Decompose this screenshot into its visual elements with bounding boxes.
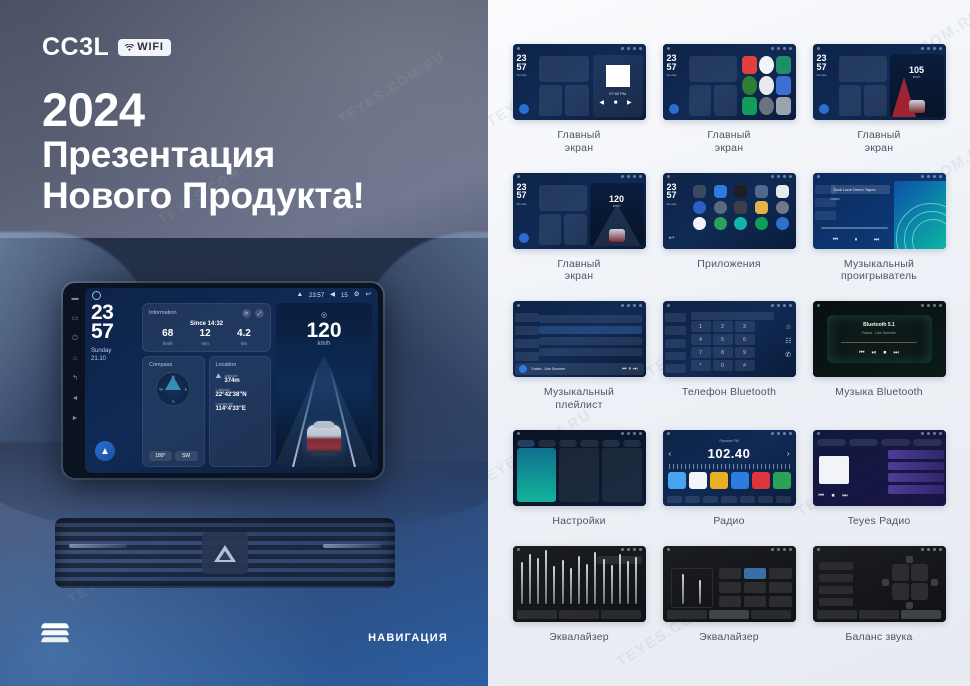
preset-station [773, 472, 791, 489]
altitude-block: Altitude 374m [224, 373, 239, 384]
thumbnail-caption: Главныйэкран [557, 258, 600, 284]
hazard-light-button[interactable] [202, 532, 248, 574]
dialpad-key[interactable]: # [735, 360, 755, 371]
information-card-header: Information ⟳ ⤢ [149, 309, 264, 318]
adas-speed-value: 105 [890, 65, 944, 75]
next-icon: ⏭ [874, 237, 879, 244]
thumbnail-grid: 2357Sunday 07:50 PM ◀ ■ ▶ Главныйэкран [488, 0, 970, 657]
thumbnail-teyes-radio[interactable]: ⏮ ⏹ ⏭ [813, 430, 946, 506]
thumbnail-home-apps[interactable]: 2357Sunday [663, 44, 796, 120]
preset-station [689, 472, 707, 489]
volume-up-icon[interactable]: ► [72, 415, 79, 422]
thumbnail-caption: Баланс звука [845, 631, 912, 644]
dialpad-key[interactable]: 9 [735, 347, 755, 358]
bluetooth-version-label: Bluetooth 5.1 [863, 322, 895, 328]
stat-unit: km [237, 341, 251, 346]
mini-player-title: Faded - Like Summer [532, 367, 566, 371]
stat-value: 12 [200, 329, 211, 339]
compass-readouts: 180° SW [149, 451, 198, 461]
bluetooth-controls[interactable]: ⏮⏯⏹⏭ [859, 350, 899, 357]
information-card-actions: ⟳ ⤢ [242, 309, 264, 318]
progress-bar[interactable] [821, 227, 888, 229]
eq-slider [619, 554, 621, 604]
thumb-clock: 2357Sunday [667, 183, 677, 206]
home-button-icon[interactable]: ⌂ [73, 355, 77, 362]
tuner-scale[interactable] [669, 464, 790, 469]
clock-column: 23 57 Sunday 21.10 ▲ [91, 303, 137, 467]
player-side-rail[interactable] [815, 185, 836, 245]
thumb-location-card [565, 85, 589, 116]
compass-north-label: N [172, 374, 175, 379]
home-icon [517, 47, 520, 50]
wifi-settings-card[interactable] [517, 448, 557, 502]
thumb-status-bar [663, 546, 796, 554]
eq-slider [586, 564, 588, 604]
preset-buttons[interactable] [719, 568, 792, 607]
album-art [606, 65, 630, 87]
app-icon[interactable] [693, 201, 706, 214]
thumb-status-bar [513, 546, 646, 554]
phone-side-rail[interactable] [665, 313, 686, 373]
app-icon[interactable] [755, 185, 768, 198]
thumb-status-bar [813, 44, 946, 52]
hardware-button-strip[interactable]: ▬ ▭ ⏻ ⌂ ↰ ◄ ► [67, 295, 83, 422]
app-icon[interactable] [693, 217, 706, 230]
adas-speed-value: 120 [590, 194, 644, 204]
information-title: Information [149, 310, 177, 316]
app-icon[interactable] [734, 201, 747, 214]
thumbnail-settings[interactable] [513, 430, 646, 506]
compass-dial: N S E W [156, 372, 190, 406]
tab-chip [849, 439, 878, 446]
thumb-location-card [864, 85, 887, 116]
speaker-zone [911, 564, 928, 581]
dialpad-key[interactable]: 4 [691, 334, 711, 345]
thumb-nav-fab [669, 104, 679, 114]
dialpad-key[interactable]: 6 [735, 334, 755, 345]
gallery-item[interactable]: Эквалайзер [510, 546, 648, 658]
clock-minutes: 57 [91, 322, 137, 341]
thumbnail-home-adas-105[interactable]: 2357Sunday 105 km/h [813, 44, 946, 120]
radio-band-label: Русское FM [663, 439, 796, 443]
teyes-radio-tabs[interactable] [817, 439, 942, 446]
previous-station-icon[interactable]: ‹ [669, 449, 672, 458]
app-icon[interactable] [776, 201, 789, 214]
compass-south-label: S [172, 399, 175, 404]
fader-group[interactable] [671, 568, 713, 608]
app-icon[interactable] [734, 217, 747, 230]
logo-text: CC3L [42, 33, 109, 62]
wifi-badge: WIFI [118, 39, 170, 56]
lead-vehicle-graphic [609, 229, 625, 242]
gallery-item[interactable]: Баланс звука [810, 546, 948, 658]
dialpad-key[interactable]: 0 [713, 360, 733, 371]
equalizer-tabs[interactable] [517, 610, 642, 619]
favorite-icon: ☆ [785, 323, 791, 331]
thumb-clock: 2357Sunday [517, 183, 527, 206]
balance-left-arrow-icon[interactable] [882, 579, 889, 586]
app-icon[interactable] [776, 185, 789, 198]
longitude-value: 114°4'33"E [216, 406, 265, 412]
navigation-arrow-icon[interactable]: ▲ [95, 441, 115, 461]
balance-up-arrow-icon[interactable] [906, 556, 913, 563]
stat-value: 68 [162, 329, 173, 339]
headline-line-2: Нового Продукта! [42, 175, 365, 216]
thumb-nav-fab [819, 104, 829, 114]
headline-year: 2024 [42, 86, 365, 134]
tab-chip [817, 439, 846, 446]
track-time: 07:50 PM [593, 91, 643, 96]
home-icon[interactable] [92, 291, 101, 300]
play-pause-icon: ⏯ [872, 350, 877, 357]
adas-icon: ◎ [321, 311, 327, 319]
settings-tabs[interactable] [517, 440, 642, 447]
balance-tabs[interactable] [817, 610, 942, 619]
list-item [539, 337, 642, 345]
next-station-icon[interactable]: › [787, 449, 790, 458]
mini-player-controls: ⏮⏸⏭ [622, 366, 640, 372]
presentation-hero-panel: TEYES.COM.RU TEYES.COM.RU TEYES.COM.RU C… [0, 0, 488, 686]
stop-icon: ⏹ [883, 350, 886, 357]
eq-slider [529, 554, 531, 604]
clock-date: 21.10 [91, 355, 137, 363]
tab-chip [538, 440, 556, 447]
thumbnail-caption: Главныйэкран [707, 129, 750, 155]
app-icon[interactable] [734, 185, 747, 198]
location-card[interactable]: Location ⛰ Altitude 374m [209, 356, 272, 467]
equalizer-sliders[interactable] [521, 566, 638, 604]
layers-icon-mid [40, 630, 69, 635]
teyes-station-list[interactable] [888, 450, 944, 494]
dialpad[interactable]: 1 2 3 4 5 6 7 8 9 * 0 # [691, 321, 755, 371]
thumb-status-bar [813, 173, 946, 181]
thumb-media-card: 07:50 PM ◀ ■ ▶ [593, 55, 643, 117]
thumb-status-bar [513, 301, 646, 309]
gallery-item[interactable]: 2357Sunday 105 km/h Главныйэкран [810, 44, 948, 169]
back-button-icon[interactable]: ↰ [72, 375, 78, 382]
equalizer-tabs[interactable] [667, 610, 792, 619]
mini-player-bar[interactable]: Faded - Like Summer ⏮⏸⏭ [515, 363, 644, 375]
carplay-settings-card[interactable] [559, 448, 599, 502]
tab-chip [601, 610, 641, 619]
app-icon[interactable] [714, 185, 727, 198]
album-art [519, 365, 527, 373]
gallery-item[interactable]: Bluetooth 5.1 Faded - Like Summer ⏮⏯⏹⏭ М… [810, 301, 948, 426]
thumb-status-bar [663, 430, 796, 438]
tab-chip [881, 439, 910, 446]
power-button-icon[interactable]: ⏻ [72, 335, 78, 342]
thumbnail-caption: Главныйэкран [857, 129, 900, 155]
status-volume: 15 [341, 293, 348, 299]
gallery-item[interactable]: Faded - Like Summer ⏮⏸⏭ Музыкальныйплейл… [510, 301, 648, 426]
gallery-item[interactable]: Эквалайзер [660, 546, 798, 658]
radio-frequency: 102.40 [663, 446, 796, 461]
list-item [539, 315, 642, 323]
information-card[interactable]: Information ⟳ ⤢ Since 14:32 68 [142, 303, 271, 352]
radio-toolbar[interactable] [667, 496, 792, 503]
gear-icon[interactable]: ⚙ [354, 292, 360, 299]
altitude-value: 374m [224, 378, 239, 384]
thumbnail-bluetooth-music[interactable]: Bluetooth 5.1 Faded - Like Summer ⏮⏯⏹⏭ [813, 301, 946, 377]
tab-chip [751, 610, 791, 619]
preset-station [752, 472, 770, 489]
thumbnail-bluetooth-phone[interactable]: 1 2 3 4 5 6 7 8 9 * 0 # ☆☷✆ [663, 301, 796, 377]
thumbnail-caption: Музыка Bluetooth [835, 386, 923, 399]
speaker-zone [911, 583, 928, 600]
preset-button [744, 568, 766, 579]
tab-chip [709, 610, 749, 619]
thumbnail-caption: Приложения [697, 258, 760, 271]
tab-chip [559, 610, 599, 619]
compass-direction: SW [175, 451, 198, 461]
eq-slider [578, 556, 580, 604]
speaker-zone [892, 583, 909, 600]
dialpad-key[interactable]: 2 [713, 321, 733, 332]
preset-station [668, 472, 686, 489]
preset-button [719, 582, 741, 593]
app-icon[interactable] [755, 201, 768, 214]
wifi-icon[interactable]: ▲ [297, 292, 303, 299]
hw-button-icon[interactable]: ▭ [72, 315, 79, 322]
media-controls[interactable]: ◀ ■ ▶ [593, 99, 643, 106]
gallery-item[interactable]: Русское FM 102.40 ‹ › Радио [660, 430, 798, 542]
balance-presets[interactable] [819, 562, 853, 606]
now-playing-title: Dark Lane Demo Tapes [831, 185, 890, 194]
hw-button-icon[interactable]: ▬ [72, 295, 79, 302]
pause-icon: ⏸ [854, 237, 857, 244]
thumbnail-caption: Teyes Радио [848, 515, 911, 528]
speaker-balance-pad[interactable] [892, 564, 928, 600]
headline-line-1: Презентация [42, 134, 365, 175]
thumb-status-bar [663, 173, 796, 181]
thumbnail-equalizer-presets[interactable] [663, 546, 796, 622]
bluetooth-track-title: Faded - Like Summer [862, 331, 896, 335]
app-icon[interactable] [714, 201, 727, 214]
thumb-compass-card [539, 214, 561, 245]
preset-station [731, 472, 749, 489]
gallery-item[interactable]: 1 2 3 4 5 6 7 8 9 * 0 # ☆☷✆ Те [660, 301, 798, 426]
head-unit-screen[interactable]: ▲ 23:57 ◀ 15 ⚙ ↩ 23 57 Sunday [85, 288, 378, 473]
eq-slider [627, 561, 629, 604]
dialpad-key[interactable]: 8 [713, 347, 733, 358]
thumbnail-caption: Телефон Bluetooth [682, 386, 776, 399]
dashboard-air-vents [55, 518, 395, 588]
tab-chip [859, 610, 899, 619]
compass-card[interactable]: Compass N S E W 180° [142, 356, 205, 467]
tab-chip [623, 440, 641, 447]
compass-title: Compass [149, 362, 198, 368]
stat-unit: min [200, 341, 211, 346]
thumb-status-bar [513, 430, 646, 438]
wifi-badge-label: WIFI [137, 41, 163, 53]
app-icon[interactable] [693, 185, 706, 198]
thumb-adas-view: 105 km/h [890, 54, 944, 117]
compass-east-label: E [185, 387, 188, 392]
product-logo: CC3L WIFI [42, 33, 171, 62]
thumb-compass-card [539, 85, 562, 116]
thumb-info-card [839, 56, 887, 82]
status-icons [621, 47, 642, 50]
app-icons-grid[interactable] [691, 185, 792, 245]
gallery-item[interactable]: 2357Sunday Главныйэкран [660, 44, 798, 169]
preset-button [769, 582, 791, 593]
tab-chip [517, 440, 535, 447]
progress-bar[interactable] [841, 342, 917, 343]
eq-slider [545, 550, 547, 604]
thumbnail-caption: Настройки [552, 515, 605, 528]
thumb-status-bar [813, 546, 946, 554]
thumbnail-music-player[interactable]: Dark Lane Demo Tapes Drake ⏮⏸⏭ [813, 173, 946, 249]
album-art [819, 456, 849, 484]
expand-icon[interactable]: ⤢ [255, 309, 264, 318]
tab-chip [667, 610, 707, 619]
status-bar: ▲ 23:57 ◀ 15 ⚙ ↩ [85, 288, 378, 303]
preset-button [744, 582, 766, 593]
thumbnail-home-adas-120[interactable]: 2357Sunday 120 km/h [513, 173, 646, 249]
gallery-item[interactable]: 2357Sunday 07:50 PM ◀ ■ ▶ Главныйэкран [510, 44, 648, 169]
thumb-status-bar [513, 173, 646, 181]
preset-button [719, 596, 741, 607]
phone-actions[interactable]: ☆☷✆ [785, 323, 791, 359]
gallery-item[interactable]: Dark Lane Demo Tapes Drake ⏮⏸⏭ Музыкальн… [810, 173, 948, 298]
dialpad-key[interactable]: * [691, 360, 711, 371]
thumb-info-card [539, 56, 589, 82]
tab-chip [602, 440, 620, 447]
eq-slider [603, 559, 605, 604]
thumbnail-playlist[interactable]: Faded - Like Summer ⏮⏸⏭ [513, 301, 646, 377]
navigation-label: НАВИГАЦИЯ [368, 632, 448, 644]
mountain-icon: ⛰ [216, 373, 222, 381]
hazard-triangle-icon [214, 545, 236, 562]
playlist-rows[interactable] [539, 315, 642, 356]
thumb-status-bar [813, 430, 946, 438]
thumbnail-caption: Эквалайзер [549, 631, 609, 644]
thumbnail-caption: Главныйэкран [557, 129, 600, 155]
list-item [539, 348, 642, 356]
more-settings-card[interactable] [602, 448, 642, 502]
thumbnail-radio[interactable]: Русское FM 102.40 ‹ › [663, 430, 796, 506]
eq-slider [521, 562, 523, 604]
gallery-item[interactable]: Настройки [510, 430, 648, 542]
eq-slider [570, 568, 572, 604]
latitude-value: 22°42'38"N [216, 392, 265, 398]
teyes-radio-controls[interactable]: ⏮ ⏹ ⏭ [819, 493, 851, 500]
gallery-item[interactable]: 2357Sunday 120 km/h Главныйэкран [510, 173, 648, 298]
volume-down-icon[interactable]: ◄ [72, 395, 79, 402]
refresh-icon[interactable]: ⟳ [242, 309, 251, 318]
app-icon[interactable] [755, 217, 768, 230]
dialpad-key[interactable]: 3 [735, 321, 755, 332]
adas-speed-value: 120 [276, 320, 372, 341]
thumb-adas-view: 120 km/h [590, 183, 644, 246]
now-playing-artist: Drake [831, 197, 890, 202]
preset-stations[interactable] [668, 472, 791, 489]
car-interior-photo: ▬ ▭ ⏻ ⌂ ↰ ◄ ► ▲ 23:57 [0, 238, 488, 686]
back-icon[interactable]: ↩ [366, 292, 371, 299]
tab-chip [901, 610, 941, 619]
eq-slider [553, 566, 555, 604]
gallery-item[interactable]: ⏮ ⏹ ⏭ Teyes Радио [810, 430, 948, 542]
status-bar-right: ▲ 23:57 ◀ 15 ⚙ ↩ [297, 292, 371, 299]
tab-chip [817, 610, 857, 619]
eq-slider [611, 565, 613, 604]
thumb-location-card [714, 85, 737, 116]
thumb-status-bar [813, 301, 946, 309]
dialpad-key[interactable]: 7 [691, 347, 711, 358]
settings-cards[interactable] [517, 448, 642, 502]
tab-chip [913, 439, 942, 446]
thumbnail-caption: Музыкальныйпроигрыватель [841, 258, 917, 284]
dial-number-field[interactable] [691, 312, 774, 320]
status-bar-left [92, 291, 101, 300]
next-icon: ⏭ [893, 350, 898, 357]
balance-down-arrow-icon[interactable] [906, 602, 913, 609]
thumb-clock: 2357Sunday [667, 54, 677, 77]
app-icon[interactable] [714, 217, 727, 230]
stat-item: 4.2 km [237, 329, 251, 346]
back-icon[interactable]: ↩ [669, 234, 675, 242]
thumbnail-sound-balance[interactable] [813, 546, 946, 622]
thumb-status-bar [513, 44, 646, 52]
vent-slot-left [69, 544, 127, 548]
thumb-clock: 2357Sunday [817, 54, 827, 77]
lower-widgets-row: Compass N S E W 180° [142, 356, 271, 467]
latitude-block: Latitude 22°42'38"N [216, 387, 265, 398]
preset-button [719, 568, 741, 579]
screen-body: 23 57 Sunday 21.10 ▲ Information [85, 303, 378, 473]
previous-icon: ⏮ [859, 350, 864, 357]
contacts-icon: ☷ [785, 337, 791, 345]
dialpad-key[interactable]: 1 [691, 321, 711, 332]
speaker-zone [892, 564, 909, 581]
previous-icon: ⏮ [833, 237, 838, 244]
lead-vehicle-graphic [307, 425, 341, 453]
preset-button [744, 596, 766, 607]
wifi-icon [125, 44, 134, 51]
thumb-compass-card [689, 85, 711, 116]
information-stats: 68 km/h 12 min 4.2 km [149, 329, 264, 346]
thumbnail-caption: Эквалайзер [699, 631, 759, 644]
thumbnail-home-media[interactable]: 2357Sunday 07:50 PM ◀ ■ ▶ [513, 44, 646, 120]
player-controls[interactable]: ⏮⏸⏭ [825, 237, 888, 244]
dialpad-key[interactable]: 5 [713, 334, 733, 345]
vent-slot-right [323, 544, 381, 548]
volume-icon[interactable]: ◀ [330, 292, 335, 299]
gallery-item[interactable]: 2357Sunday [660, 173, 798, 298]
headline-block: 2024 Презентация Нового Продукта! [42, 86, 365, 217]
preset-button [769, 568, 791, 579]
tab-chip [517, 610, 557, 619]
thumb-compass-card [839, 85, 861, 116]
stat-item: 68 km/h [162, 329, 173, 346]
thumb-app-shortcuts[interactable] [740, 54, 794, 117]
app-icon[interactable] [776, 217, 789, 230]
thumb-nav-fab [519, 104, 529, 114]
layers-icon-top [40, 623, 69, 628]
bluetooth-player-card: Bluetooth 5.1 Faded - Like Summer ⏮⏯⏹⏭ [827, 315, 932, 363]
preset-station [710, 472, 728, 489]
compass-west-label: W [159, 387, 163, 392]
waveform-visual [894, 181, 946, 249]
eq-slider [537, 558, 539, 604]
tab-chip [580, 440, 598, 447]
adas-panel[interactable]: ◎ 120 km/h [276, 303, 372, 467]
balance-right-arrow-icon[interactable] [931, 579, 938, 586]
thumbnail-equalizer-bars[interactable] [513, 546, 646, 622]
fader [682, 574, 684, 604]
stat-unit: km/h [162, 341, 173, 346]
thumbnail-app-drawer[interactable]: 2357Sunday [663, 173, 796, 249]
